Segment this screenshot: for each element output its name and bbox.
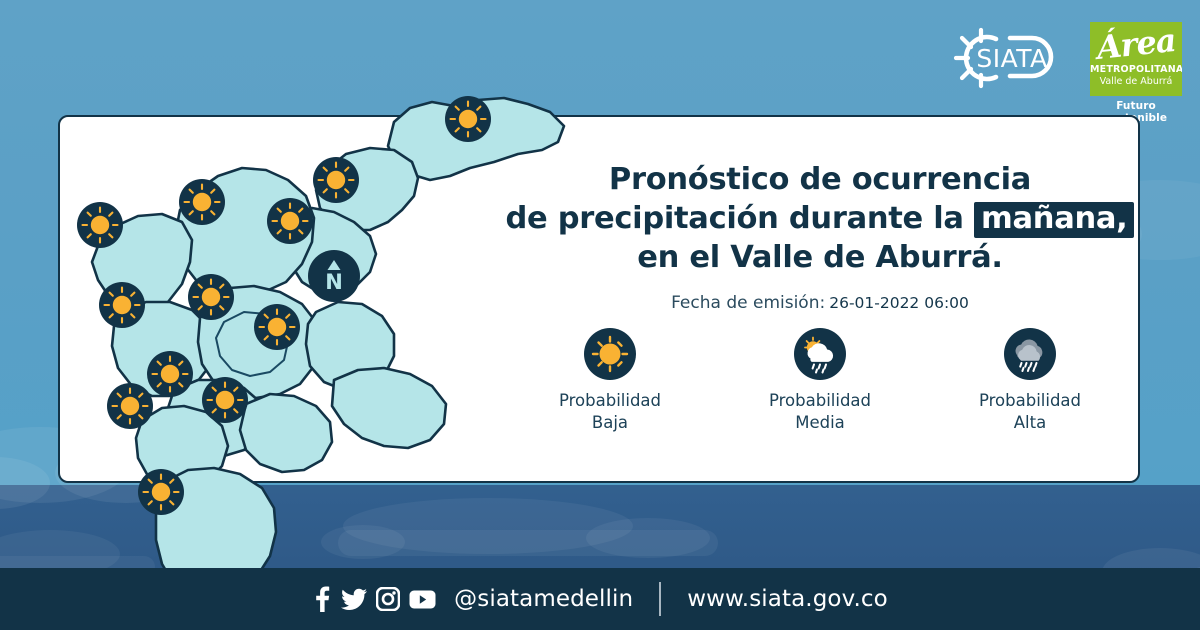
map-marker-caldas[interactable] [138,469,184,515]
siata-wordmark: SIATA [976,44,1047,73]
issue-date-label: Fecha de emisión: [671,293,825,313]
issue-date-value: 26-01-2022 06:00 [829,294,969,312]
youtube-icon[interactable] [409,589,436,610]
legend-alta-line2: Alta [945,412,1115,434]
legend-label-baja: Probabilidad Baja [525,390,695,434]
sun-cloud-rain-icon [794,328,846,380]
map-marker-la-estrella[interactable] [107,383,153,429]
headline-block: Pronóstico de ocurrencia de precipitació… [505,160,1135,313]
footer-content: @siatamedellin www.siata.gov.co [0,568,1200,630]
issue-date: Fecha de emisión:26-01-2022 06:00 [505,293,1135,313]
map-marker-sabaneta[interactable] [202,377,248,423]
map-marker-northwest[interactable] [77,202,123,248]
title-line-1: Pronóstico de ocurrencia [505,160,1135,199]
facebook-icon[interactable] [312,586,332,612]
cloud-heavy-rain-icon [1004,328,1056,380]
social-icon-group [312,586,436,612]
map-marker-envigado[interactable] [254,304,300,350]
valle-de-aburra-map: N [58,50,578,580]
map-marker-copacabana[interactable] [267,198,313,244]
legend-item-baja[interactable]: Probabilidad Baja [525,328,695,434]
legend-baja-line1: Probabilidad [525,390,695,412]
probability-legend: Probabilidad Baja [505,328,1135,434]
legend-label-alta: Probabilidad Alta [945,390,1115,434]
legend-item-media[interactable]: Probabilidad Media [735,328,905,434]
map-marker-girardota[interactable] [313,157,359,203]
legend-label-media: Probabilidad Media [735,390,905,434]
am-line-metropolitana: METROPOLITANA [1090,64,1182,75]
title-line-2: de precipitación durante la mañana, [505,199,1135,238]
map-marker-itagui[interactable] [147,351,193,397]
instagram-icon[interactable] [376,587,400,611]
compass-north-label: N [325,270,343,294]
map-marker-medellin[interactable] [188,274,234,320]
compass-rose: N [308,250,360,302]
am-line-valle: Valle de Aburrá [1090,76,1182,87]
sun-icon [584,328,636,380]
am-logo-badge: Área METROPOLITANA Valle de Aburrá [1090,22,1182,96]
title-line-2-prefix: de precipitación durante la [506,201,964,236]
map-marker-barbosa[interactable] [445,96,491,142]
map-marker-west[interactable] [99,282,145,328]
title-highlight-manana: mañana, [974,202,1134,238]
logo-group: SIATA Área METROPOLITANA Valle de Aburrá… [948,22,1182,124]
page-title: Pronóstico de ocurrencia de precipitació… [505,160,1135,277]
legend-baja-line2: Baja [525,412,695,434]
legend-media-line2: Media [735,412,905,434]
website-url[interactable]: www.siata.gov.co [687,586,888,612]
legend-item-alta[interactable]: Probabilidad Alta [945,328,1115,434]
twitter-icon[interactable] [341,586,367,612]
legend-alta-line1: Probabilidad [945,390,1115,412]
legend-media-line1: Probabilidad [735,390,905,412]
map-marker-bello[interactable] [179,179,225,225]
footer-divider [659,582,661,616]
title-line-3: en el Valle de Aburrá. [505,238,1135,277]
social-handle[interactable]: @siatamedellin [454,586,633,612]
am-script-wordmark: Área [1090,22,1182,68]
siata-logo: SIATA [948,22,1076,94]
area-metropolitana-logo: Área METROPOLITANA Valle de Aburrá Futur… [1090,22,1182,124]
infographic-canvas: SIATA Área METROPOLITANA Valle de Aburrá… [0,0,1200,630]
